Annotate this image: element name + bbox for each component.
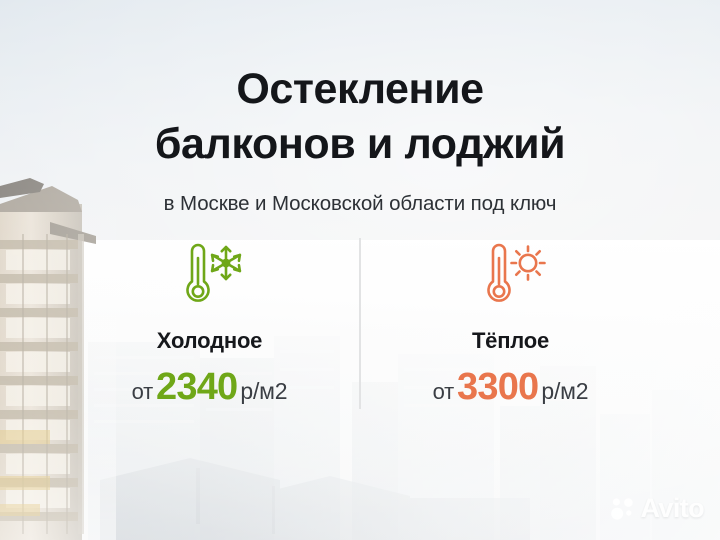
avito-wordmark: Avito xyxy=(641,493,705,524)
option-price-warm: от3300р/м2 xyxy=(361,366,660,409)
thermometer-snowflake-icon xyxy=(60,238,359,310)
headline-line-1: Остекление xyxy=(236,65,483,113)
headline-line-2: балконов и лоджий xyxy=(0,117,720,172)
pricing-options: Холодное от2340р/м2 xyxy=(60,238,660,409)
pricing-option-warm: Тёплое от3300р/м2 xyxy=(361,238,660,409)
price-prefix-warm: от xyxy=(433,379,454,404)
page-title: Остекление балконов и лоджий xyxy=(0,62,720,172)
option-label-warm: Тёплое xyxy=(361,328,660,354)
option-label-cold: Холодное xyxy=(60,328,359,354)
price-unit-cold: р/м2 xyxy=(240,378,287,404)
price-unit-warm: р/м2 xyxy=(541,378,588,404)
pricing-option-cold: Холодное от2340р/м2 xyxy=(60,238,359,409)
banner-content: Остекление балконов и лоджий в Москве и … xyxy=(0,0,720,540)
advertisement-banner: Остекление балконов и лоджий в Москве и … xyxy=(0,0,720,540)
avito-logo-icon xyxy=(610,496,636,522)
price-value-cold: 2340 xyxy=(156,366,237,408)
page-subtitle: в Москве и Московской области под ключ xyxy=(0,192,720,216)
thermometer-sun-icon xyxy=(361,238,660,310)
price-value-warm: 3300 xyxy=(457,366,538,408)
avito-watermark: Avito xyxy=(610,493,705,524)
option-price-cold: от2340р/м2 xyxy=(60,366,359,409)
price-prefix-cold: от xyxy=(132,379,153,404)
